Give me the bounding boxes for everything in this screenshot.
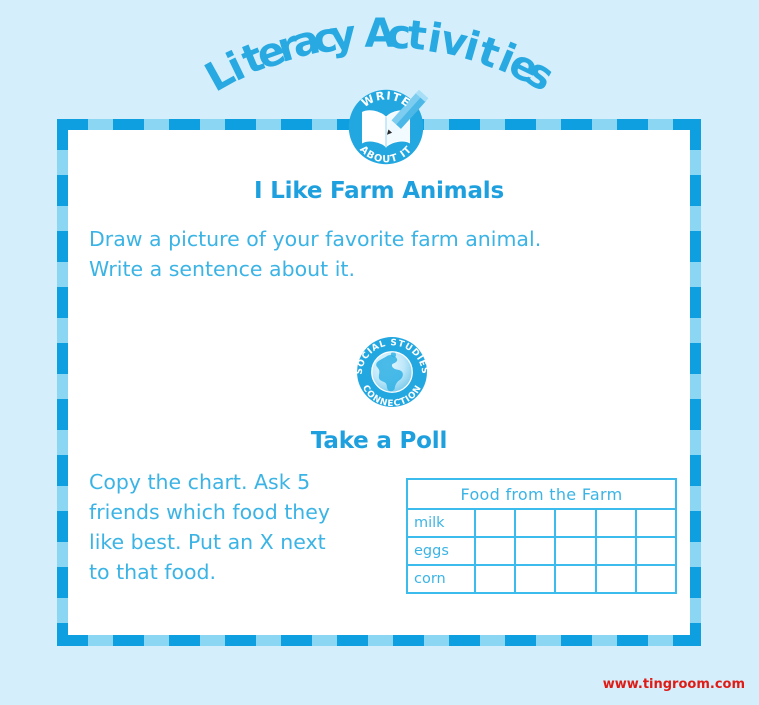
- section-heading-farm-animals: I Like Farm Animals: [68, 178, 690, 204]
- site-watermark: www.tingroom.com: [603, 677, 745, 692]
- title-letter: i: [491, 35, 521, 83]
- table-tally-cell[interactable]: [475, 509, 515, 537]
- table-row-label: eggs: [407, 537, 475, 565]
- card-border-left: [57, 119, 68, 646]
- table-tally-cell[interactable]: [636, 509, 676, 537]
- title-letter: i: [220, 43, 252, 90]
- title-letter: i: [459, 23, 485, 71]
- card-content: I Like Farm Animals Draw a picture of yo…: [68, 130, 690, 635]
- title-letter: e: [250, 26, 291, 78]
- title-letter: t: [405, 12, 429, 60]
- table-tally-cell[interactable]: [596, 537, 636, 565]
- table-tally-cell[interactable]: [636, 537, 676, 565]
- poll-chart-table: Food from the Farm milkeggscorn: [406, 478, 677, 594]
- table-caption: Food from the Farm: [407, 479, 676, 509]
- table-tally-cell[interactable]: [555, 565, 595, 593]
- title-letter: t: [473, 28, 506, 78]
- title-letter: t: [236, 34, 271, 84]
- table-row: eggs: [407, 537, 676, 565]
- section-body-farm-animals: Draw a picture of your favorite farm ani…: [89, 224, 669, 284]
- title-letter: e: [501, 40, 545, 93]
- table-row-label: milk: [407, 509, 475, 537]
- table-tally-cell[interactable]: [515, 509, 555, 537]
- table-row: corn: [407, 565, 676, 593]
- table-tally-cell[interactable]: [596, 565, 636, 593]
- table-tally-cell[interactable]: [636, 565, 676, 593]
- title-letter: r: [273, 22, 305, 72]
- body-line: friends which food they: [89, 497, 394, 527]
- table-tally-cell[interactable]: [515, 565, 555, 593]
- title-letter: [353, 11, 370, 58]
- write-about-it-badge: WRITE ABOUT IT: [337, 78, 435, 176]
- body-line: like best. Put an X next: [89, 527, 394, 557]
- table-tally-cell[interactable]: [555, 537, 595, 565]
- body-line: to that food.: [89, 557, 394, 587]
- title-letter: i: [425, 15, 446, 63]
- title-letter: a: [288, 17, 325, 68]
- table-row: milk: [407, 509, 676, 537]
- table-tally-cell[interactable]: [515, 537, 555, 565]
- body-line: Write a sentence about it.: [89, 254, 669, 284]
- card-border-right: [690, 119, 701, 646]
- table-header-row: Food from the Farm: [407, 479, 676, 509]
- title-letter: v: [436, 17, 472, 68]
- body-line: Copy the chart. Ask 5: [89, 467, 394, 497]
- table-tally-cell[interactable]: [555, 509, 595, 537]
- title-letter: L: [198, 49, 243, 102]
- title-letter: s: [518, 49, 561, 101]
- body-line: Draw a picture of your favorite farm ani…: [89, 224, 669, 254]
- card-border-bottom: [57, 635, 701, 646]
- section-body-take-a-poll: Copy the chart. Ask 5 friends which food…: [89, 467, 394, 587]
- table-tally-cell[interactable]: [596, 509, 636, 537]
- table-row-label: corn: [407, 565, 475, 593]
- title-letter: c: [385, 11, 411, 58]
- table-tally-cell[interactable]: [475, 565, 515, 593]
- title-letter: y: [327, 12, 358, 61]
- title-letter: c: [309, 14, 340, 63]
- section-heading-take-a-poll: Take a Poll: [68, 428, 690, 454]
- social-studies-connection-badge: SOCIAL STUDIES CONNECTION: [346, 326, 438, 418]
- title-letter: A: [365, 11, 396, 57]
- globe-icon: [372, 352, 412, 392]
- table-tally-cell[interactable]: [475, 537, 515, 565]
